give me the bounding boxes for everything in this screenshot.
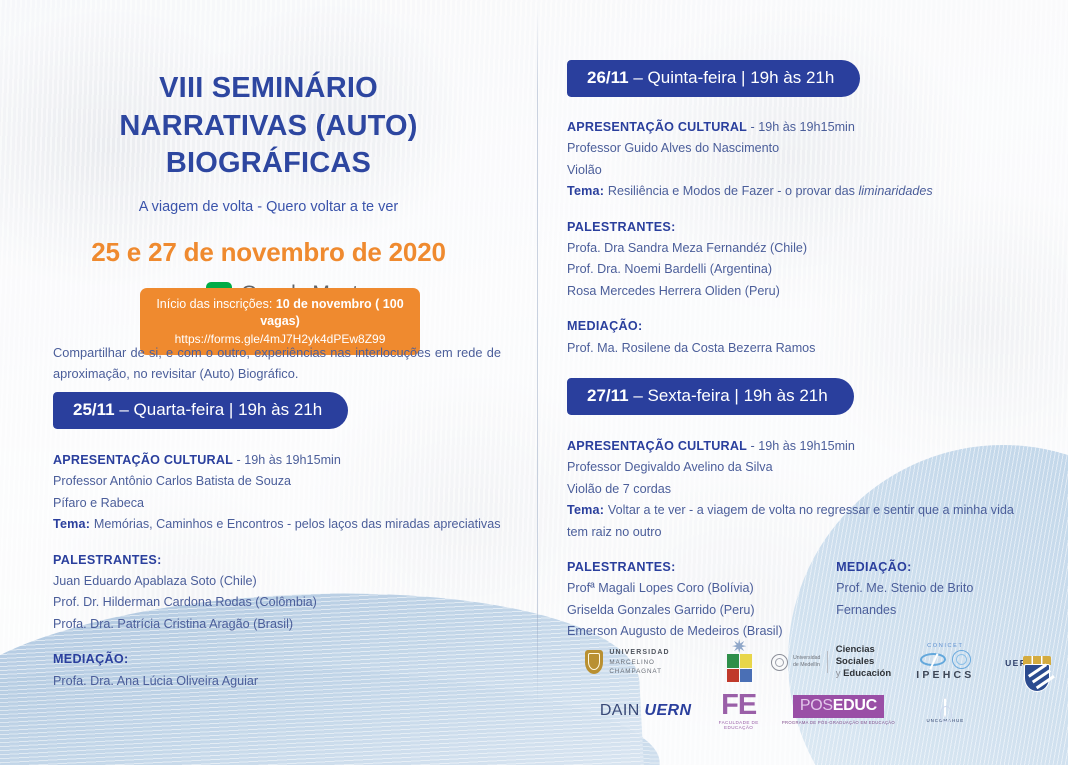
day-header-25-11: 25/11 – Quarta-feira | 19h às 21h bbox=[53, 392, 348, 429]
cultural-instrument-26-11: Violão bbox=[567, 160, 1037, 181]
logo-dain-uern: DAIN UERN bbox=[555, 702, 706, 720]
ciencias-line-1: Ciencias Sociales bbox=[836, 644, 875, 667]
infinity-icon bbox=[919, 653, 946, 666]
speakers-mediation-row-27-11: PALESTRANTES: Profª Magali Lopes Coro (B… bbox=[567, 557, 1037, 643]
event-subtitle: A viagem de volta - Quero voltar a te ve… bbox=[0, 199, 537, 215]
day-body-27-11: APRESENTAÇÃO CULTURAL - 19h às 19h15min … bbox=[567, 436, 1037, 643]
right-column: 26/11 – Quinta-feira | 19h às 21h APRESE… bbox=[537, 0, 1068, 765]
medellin-name: Universidad de Medellín bbox=[793, 655, 822, 669]
theme-label-25-11: Tema: bbox=[53, 517, 94, 531]
cultural-line-25-11: APRESENTAÇÃO CULTURAL - 19h às 19h15min bbox=[53, 450, 513, 471]
poster-canvas: VIII SEMINÁRIO NARRATIVAS (AUTO) BIOGRÁF… bbox=[0, 0, 1068, 765]
registration-highlight: 10 de novembro ( 100 vagas) bbox=[260, 297, 403, 328]
speaker-item: Profa. Dra Sandra Meza Fernandéz (Chile) bbox=[567, 238, 1037, 259]
speaker-item: Griselda Gonzales Garrido (Peru) bbox=[567, 600, 806, 621]
theme-text-27-11: Voltar a te ver - a viagem de volta no r… bbox=[567, 503, 1014, 538]
day-weekday-time-27-11: – Sexta-feira | 19h às 21h bbox=[629, 386, 828, 405]
cultural-theme-25-11: Tema: Memórias, Caminhos e Encontros - p… bbox=[53, 514, 513, 535]
champagnat-line-1: UNIVERSIDAD bbox=[609, 648, 706, 658]
registration-text: Início das inscrições: 10 de novembro ( … bbox=[150, 296, 410, 330]
logo-poseduc: POSEDUC PROGRAMA DE PÓS-GRADUAÇÃO EM EDU… bbox=[771, 695, 906, 726]
champagnat-shield-icon bbox=[585, 650, 603, 674]
dain-prefix: DAIN bbox=[600, 702, 645, 719]
mediator-item: Prof. Ma. Rosilene da Costa Bezerra Ramo… bbox=[567, 338, 1037, 359]
cultural-performer-27-11: Professor Degivaldo Avelino da Silva bbox=[567, 457, 1037, 478]
logo-row-bottom: DAIN UERN FE FACULDADE DE EDUCAÇÃO POSED… bbox=[555, 690, 1055, 732]
speaker-item: Rosa Mercedes Herrera Oliden (Peru) bbox=[567, 281, 1037, 302]
medellin-seal-icon bbox=[771, 654, 788, 671]
event-title-line-1: VIII SEMINÁRIO bbox=[0, 70, 537, 108]
chile-crest-icon: ✷ bbox=[722, 641, 756, 683]
ipehcs-name: IPEHCS bbox=[916, 669, 974, 681]
day-date-26-11: 26/11 bbox=[587, 68, 629, 87]
conicet-circle-icon bbox=[952, 650, 971, 669]
theme-label-27-11: Tema: bbox=[567, 503, 608, 517]
title-block: VIII SEMINÁRIO NARRATIVAS (AUTO) BIOGRÁF… bbox=[0, 70, 537, 306]
logo-divider bbox=[827, 651, 828, 673]
speaker-item: Prof. Dr. Hilderman Cardona Rodas (Colôm… bbox=[53, 592, 513, 613]
day-body-26-11: APRESENTAÇÃO CULTURAL - 19h às 19h15min … bbox=[567, 117, 1037, 359]
cultural-performer-25-11: Professor Antônio Carlos Batista de Souz… bbox=[53, 471, 513, 492]
speaker-item: Prof. Dra. Noemi Bardelli (Argentina) bbox=[567, 259, 1037, 280]
cultural-instrument-27-11: Violão de 7 cordas bbox=[567, 479, 1037, 500]
champagnat-line-2: MARCELINO CHAMPAGNAT bbox=[609, 659, 662, 675]
day-date-25-11: 25/11 bbox=[73, 400, 115, 419]
speaker-item: Juan Eduardo Apablaza Soto (Chile) bbox=[53, 571, 513, 592]
day-weekday-time-26-11: – Quinta-feira | 19h às 21h bbox=[629, 68, 835, 87]
poseduc-suffix: EDUC bbox=[833, 697, 877, 714]
sponsor-logos: UNIVERSIDAD MARCELINO CHAMPAGNAT ✷ Unive… bbox=[555, 638, 1055, 732]
speaker-item: Profa. Dra. Patrícia Cristina Aragão (Br… bbox=[53, 614, 513, 635]
speakers-label-25-11: PALESTRANTES: bbox=[53, 550, 513, 571]
logo-fe: FE FACULDADE DE EDUCAÇÃO bbox=[706, 692, 771, 730]
cultural-line-27-11: APRESENTAÇÃO CULTURAL - 19h às 19h15min bbox=[567, 436, 1037, 457]
cultural-time-27-11: - 19h às 19h15min bbox=[747, 439, 855, 453]
intro-paragraph: Compartilhar de si, e com o outro, exper… bbox=[53, 343, 501, 384]
cultural-performer-26-11: Professor Guido Alves do Nascimento bbox=[567, 138, 1037, 159]
event-dates: 25 e 27 de novembro de 2020 bbox=[0, 237, 537, 268]
cultural-theme-27-11: Tema: Voltar a te ver - a viagem de volt… bbox=[567, 500, 1037, 543]
cultural-time-26-11: - 19h às 19h15min bbox=[747, 120, 855, 134]
event-title-line-3: BIOGRÁFICAS bbox=[0, 145, 537, 183]
theme-italic-26-11: liminaridades bbox=[858, 184, 932, 198]
cultural-time-25-11: - 19h às 19h15min bbox=[233, 453, 341, 467]
ciencias-line-2: Educación bbox=[843, 668, 891, 679]
mediator-item: Profa. Dra. Ana Lúcia Oliveira Aguiar bbox=[53, 671, 513, 692]
theme-text-26-11: Resiliência e Modos de Fazer - o provar … bbox=[608, 184, 859, 198]
cultural-label-25-11: APRESENTAÇÃO CULTURAL bbox=[53, 453, 233, 467]
speakers-label-26-11: PALESTRANTES: bbox=[567, 217, 1037, 238]
poseduc-prefix: POS bbox=[800, 697, 833, 714]
logo-uncomahue: UNCOMAHUE bbox=[906, 699, 985, 723]
mediation-label-25-11: MEDIAÇÃO: bbox=[53, 649, 513, 670]
speakers-column-27-11: PALESTRANTES: Profª Magali Lopes Coro (B… bbox=[567, 557, 806, 643]
theme-text-25-11: Memórias, Caminhos e Encontros - pelos l… bbox=[94, 517, 501, 531]
logo-uern: UERN bbox=[985, 656, 1055, 668]
speaker-item: Profª Magali Lopes Coro (Bolívia) bbox=[567, 578, 806, 599]
cultural-line-26-11: APRESENTAÇÃO CULTURAL - 19h às 19h15min bbox=[567, 117, 1037, 138]
left-column: VIII SEMINÁRIO NARRATIVAS (AUTO) BIOGRÁF… bbox=[0, 0, 537, 765]
day-weekday-time-25-11: – Quarta-feira | 19h às 21h bbox=[115, 400, 323, 419]
cultural-label-26-11: APRESENTAÇÃO CULTURAL bbox=[567, 120, 747, 134]
ipehcs-marks bbox=[916, 649, 974, 669]
speakers-label-27-11: PALESTRANTES: bbox=[567, 557, 806, 578]
cultural-theme-26-11: Tema: Resiliência e Modos de Fazer - o p… bbox=[567, 181, 1037, 202]
day-body-25-11: APRESENTAÇÃO CULTURAL - 19h às 19h15min … bbox=[53, 450, 513, 692]
uncomahue-crest-icon bbox=[944, 698, 946, 717]
day-header-27-11: 27/11 – Sexta-feira | 19h às 21h bbox=[567, 378, 854, 415]
event-title-line-2: NARRATIVAS (AUTO) bbox=[0, 108, 537, 146]
day-date-27-11: 27/11 bbox=[587, 386, 629, 405]
logo-ipehcs-conicet: CONICET IPEHCS bbox=[906, 643, 985, 681]
dain-suffix: UERN bbox=[645, 702, 692, 719]
fe-subtitle: FACULDADE DE EDUCAÇÃO bbox=[706, 720, 771, 730]
logo-universidad-de-chile: ✷ bbox=[706, 641, 771, 683]
cultural-instrument-25-11: Pífaro e Rabeca bbox=[53, 493, 513, 514]
ciencias-slash: y bbox=[836, 668, 841, 679]
registration-prefix: Início das inscrições: bbox=[156, 297, 276, 311]
theme-label-26-11: Tema: bbox=[567, 184, 608, 198]
event-title: VIII SEMINÁRIO NARRATIVAS (AUTO) BIOGRÁF… bbox=[0, 70, 537, 183]
logo-row-top: UNIVERSIDAD MARCELINO CHAMPAGNAT ✷ Unive… bbox=[555, 638, 1055, 686]
day-header-26-11: 26/11 – Quinta-feira | 19h às 21h bbox=[567, 60, 860, 97]
logo-marcelino-champagnat: UNIVERSIDAD MARCELINO CHAMPAGNAT bbox=[555, 648, 706, 676]
mediation-label-27-11: MEDIAÇÃO: bbox=[836, 557, 1037, 578]
logo-ciencias-sociales-educacion: Universidad de Medellín Ciencias Sociale… bbox=[771, 644, 906, 680]
mediator-item: Prof. Me. Stenio de Brito Fernandes bbox=[836, 578, 1037, 621]
mediation-column-27-11: MEDIAÇÃO: Prof. Me. Stenio de Brito Fern… bbox=[836, 557, 1037, 643]
poseduc-subtitle: PROGRAMA DE PÓS-GRADUAÇÃO EM EDUCAÇÃO bbox=[782, 720, 895, 726]
fe-name: FE bbox=[706, 692, 771, 720]
mediation-label-26-11: MEDIAÇÃO: bbox=[567, 316, 1037, 337]
poseduc-badge: POSEDUC bbox=[793, 695, 884, 718]
cultural-label-27-11: APRESENTAÇÃO CULTURAL bbox=[567, 439, 747, 453]
